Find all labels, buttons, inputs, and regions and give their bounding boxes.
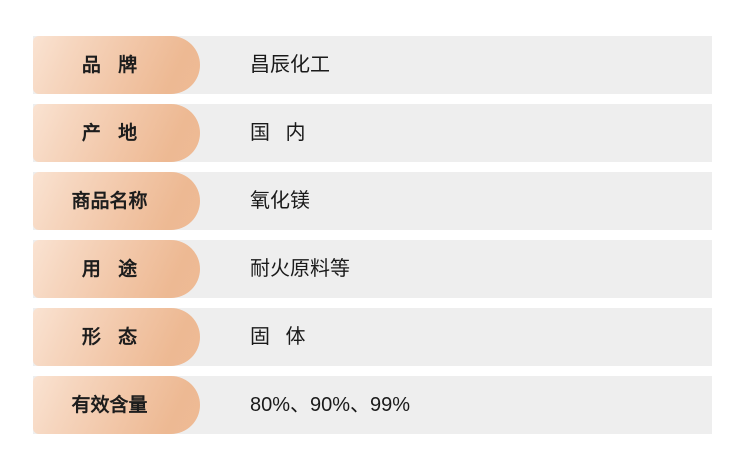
spec-value-text: 氧化镁 xyxy=(250,191,310,211)
spec-label-active-content: 有效含量 xyxy=(33,376,200,434)
spec-label-product-name: 商品名称 xyxy=(33,172,200,230)
spec-label-text: 形 态 xyxy=(76,328,143,347)
spec-value-usage: 耐火原料等 xyxy=(250,240,350,298)
spec-label-origin: 产 地 xyxy=(33,104,200,162)
spec-label-text: 用 途 xyxy=(76,260,143,279)
table-row: 用 途 耐火原料等 xyxy=(33,240,712,298)
spec-value-brand: 昌辰化工 xyxy=(250,36,330,94)
table-row: 产 地 国 内 xyxy=(33,104,712,162)
table-row: 品 牌 昌辰化工 xyxy=(33,36,712,94)
spec-value-text: 国 内 xyxy=(250,123,311,143)
spec-label-text: 品 牌 xyxy=(76,56,143,75)
spec-label-form: 形 态 xyxy=(33,308,200,366)
spec-value-product-name: 氧化镁 xyxy=(250,172,310,230)
spec-value-origin: 国 内 xyxy=(250,104,311,162)
spec-label-text: 商品名称 xyxy=(71,192,147,211)
spec-value-text: 80%、90%、99% xyxy=(250,395,410,415)
table-row: 商品名称 氧化镁 xyxy=(33,172,712,230)
spec-label-text: 产 地 xyxy=(76,124,143,143)
spec-label-text: 有效含量 xyxy=(71,396,147,415)
table-row: 有效含量 80%、90%、99% xyxy=(33,376,712,434)
product-spec-table: 品 牌 昌辰化工 产 地 国 内 商品名称 氧化镁 用 途 耐火原料等 形 态 xyxy=(33,36,712,434)
spec-value-text: 耐火原料等 xyxy=(250,259,350,279)
spec-value-active-content: 80%、90%、99% xyxy=(250,376,410,434)
spec-value-text: 固 体 xyxy=(250,327,311,347)
spec-label-usage: 用 途 xyxy=(33,240,200,298)
spec-label-brand: 品 牌 xyxy=(33,36,200,94)
spec-value-text: 昌辰化工 xyxy=(250,55,330,75)
table-row: 形 态 固 体 xyxy=(33,308,712,366)
spec-value-form: 固 体 xyxy=(250,308,311,366)
